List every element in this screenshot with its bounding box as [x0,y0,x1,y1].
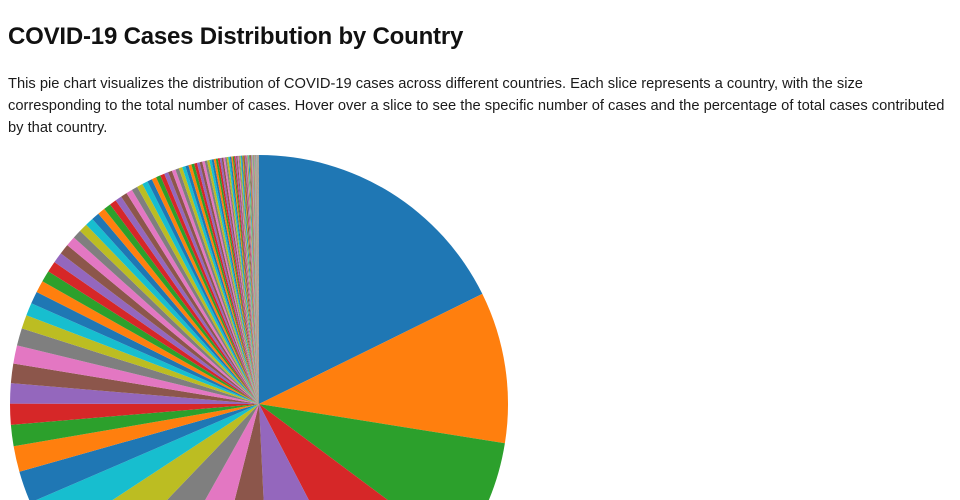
chart-page: COVID-19 Cases Distribution by Country T… [0,0,960,500]
pie-chart[interactable]: United States: 79,600,000 (17.71%)India:… [0,140,960,500]
pie-chart-container[interactable]: United States: 79,600,000 (17.71%)India:… [0,140,960,500]
chart-description: This pie chart visualizes the distributi… [8,73,952,139]
pie-slices-group[interactable]: United States: 79,600,000 (17.71%)India:… [10,155,508,500]
page-title: COVID-19 Cases Distribution by Country [8,21,463,53]
